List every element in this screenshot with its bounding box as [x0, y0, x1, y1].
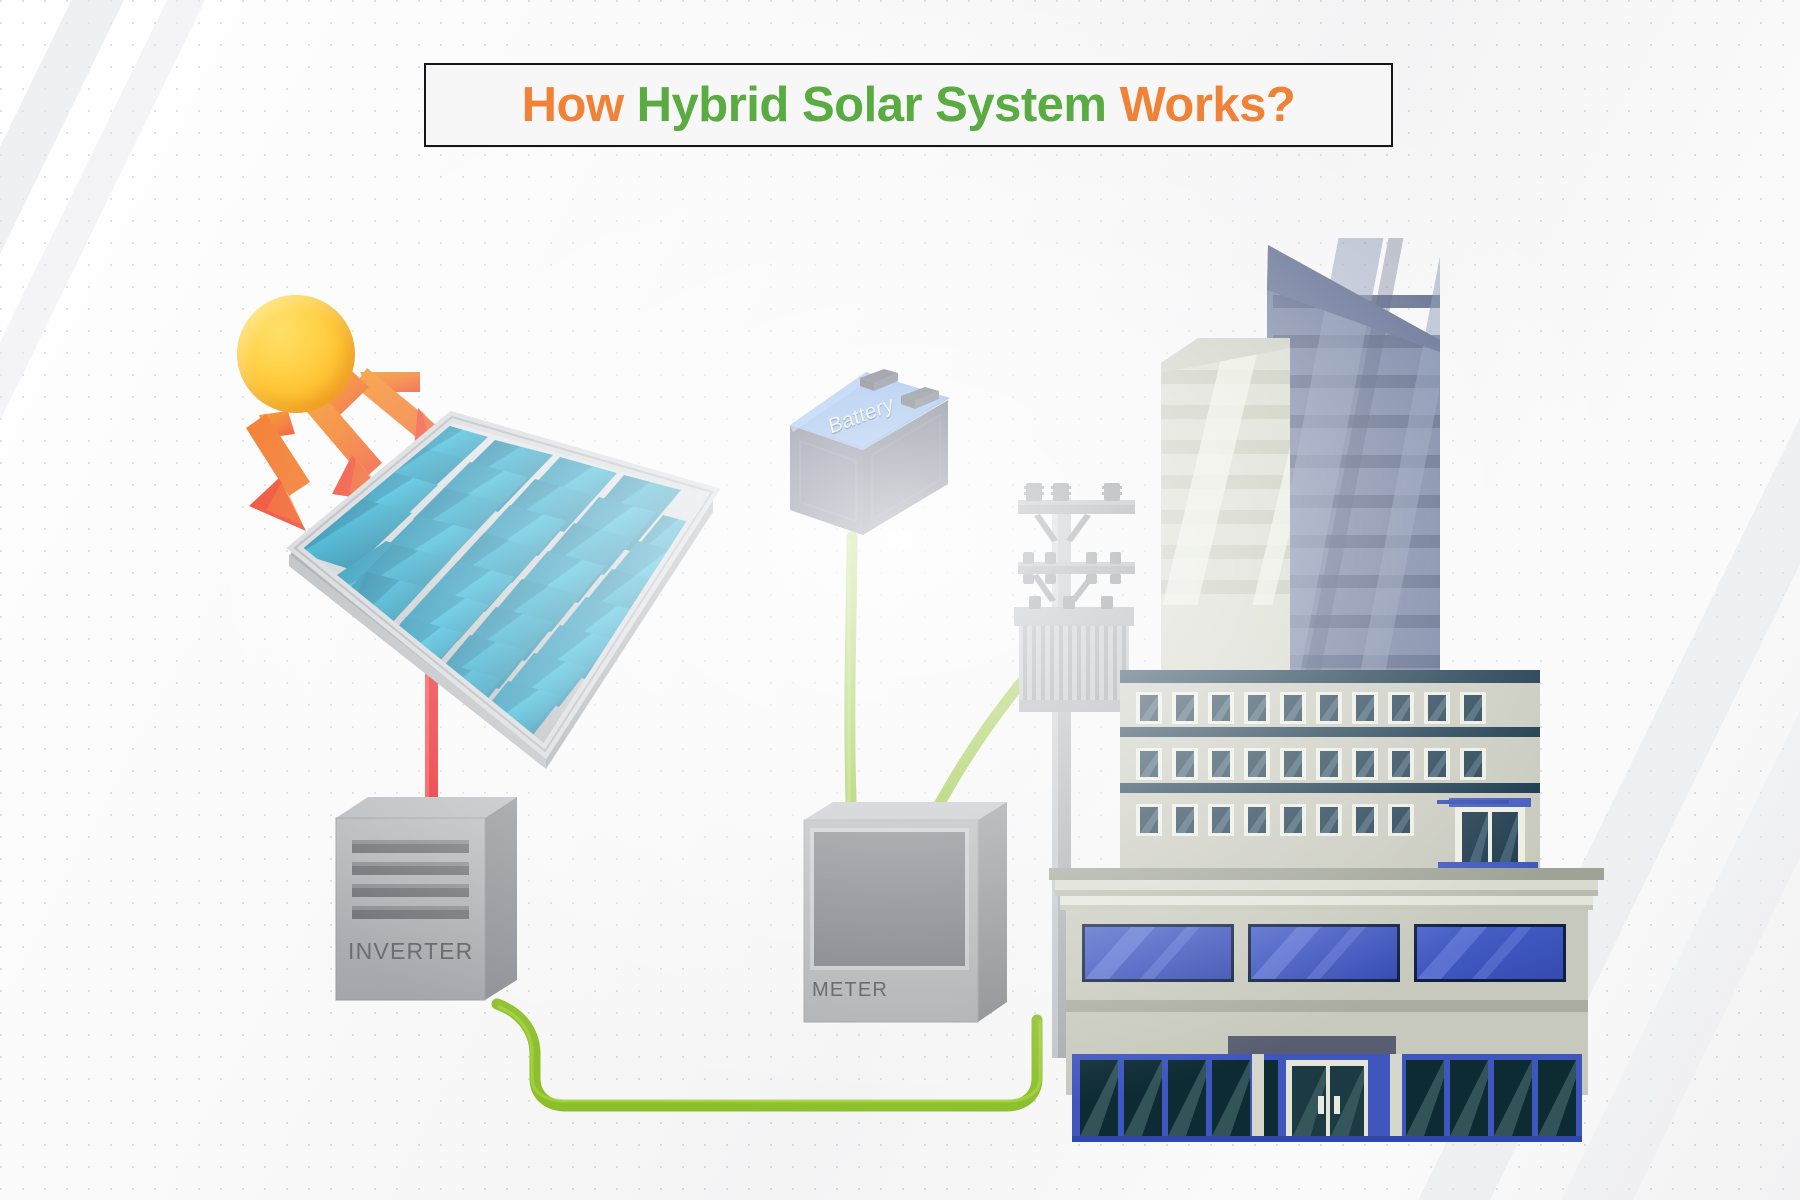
title-text: How Hybrid Solar System Works?: [522, 81, 1296, 130]
inverter-device: [336, 797, 517, 1000]
title-part-works: Works?: [1106, 78, 1295, 132]
podium-cornice: [1049, 868, 1604, 910]
transformer: [1014, 596, 1134, 712]
storefront-ribbon-windows: [1082, 924, 1566, 982]
diagram-artwork: [0, 0, 1800, 1200]
meter-label: METER: [812, 979, 888, 1002]
cable-panel-to-inverter: [425, 670, 438, 805]
inverter-label: INVERTER: [348, 938, 473, 965]
building-complex: [1049, 230, 1604, 1142]
storefront-glass-panels: [1080, 1054, 1576, 1140]
roof-box: [1437, 800, 1509, 804]
sun-icon: [237, 295, 355, 413]
title-part-how: How: [522, 78, 637, 132]
infographic-canvas: How Hybrid Solar System Works?: [0, 0, 1800, 1200]
battery-device: [790, 369, 950, 535]
storefront: [1066, 910, 1588, 1142]
title-part-hybrid-solar-system: Hybrid Solar System: [637, 78, 1107, 132]
page-title: How Hybrid Solar System Works?: [424, 63, 1393, 147]
meter-display: [812, 830, 967, 968]
